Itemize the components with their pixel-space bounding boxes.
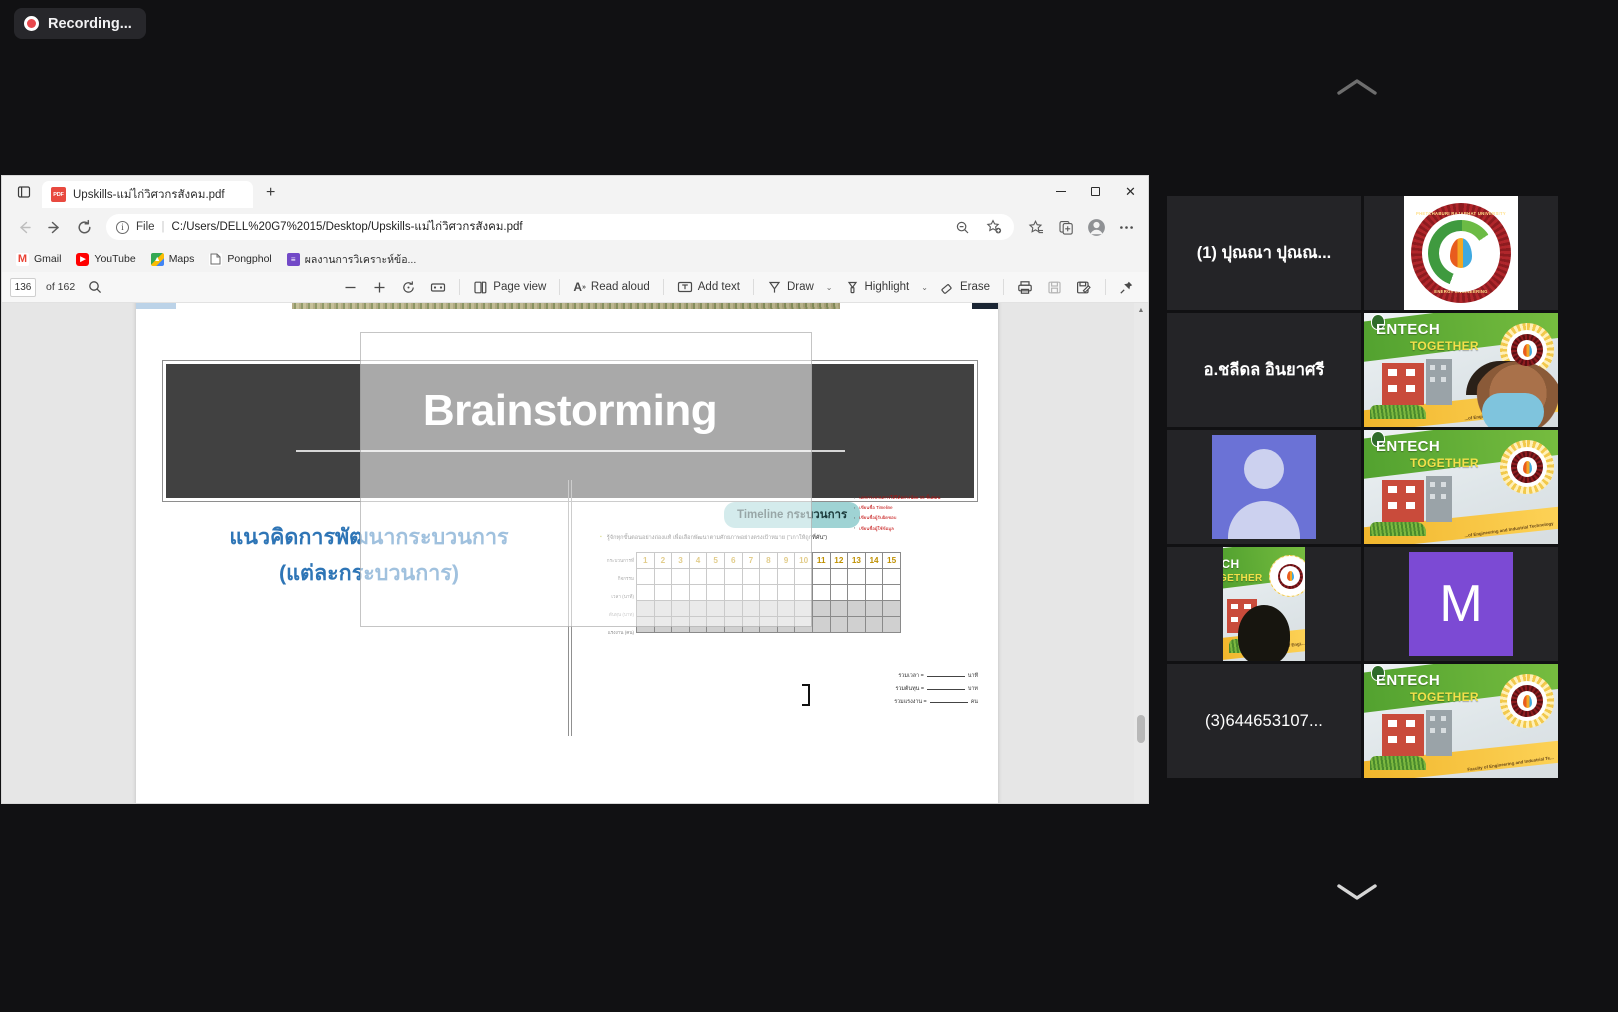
participant-tile[interactable]: ENTECH TOGETHER Faculty of Engineering a… — [1364, 664, 1558, 778]
close-icon[interactable]: ✕ — [1113, 176, 1148, 206]
fit-to-page-icon[interactable] — [424, 276, 452, 298]
url-text: C:/Users/DELL%20G7%2015/Desktop/Upskills… — [172, 218, 523, 236]
maximize-icon[interactable] — [1078, 176, 1113, 206]
bookmarks-bar: M Gmail ▶ YouTube ▲ Maps Pongphol ≡ ผลงา… — [2, 246, 1148, 272]
url-scheme-label: File — [136, 221, 155, 233]
sum-unit: บาท — [968, 685, 978, 693]
participant-tile[interactable]: ENTECH TOGETHER ...of Engineering and In… — [1364, 430, 1558, 544]
timeline-sum-row: รวมแรงงาน =คน — [894, 697, 978, 706]
participant-name: (3)644653107... — [1199, 712, 1329, 731]
entech-title: ENTECH — [1376, 438, 1440, 455]
participant-tile[interactable] — [1167, 430, 1361, 544]
participant-tile-active-speaker[interactable]: ENTECH TOGETHER ...of Engineering and In… — [1364, 313, 1558, 427]
table-cell: 12 — [830, 553, 848, 569]
new-tab-button[interactable]: + — [258, 180, 284, 206]
timeline-bullets: แยกกระบวนการให้ได้อย่างน้อย 15 ขั้นตอน เ… — [854, 494, 940, 535]
pdf-scrollbar[interactable]: ▲ ▼ — [1134, 303, 1148, 803]
entech-title: ECH — [1223, 557, 1240, 571]
pdf-toolbar: 136 of 162 Page view — [2, 272, 1148, 303]
draw-dropdown-caret[interactable]: ⌄ — [822, 283, 837, 292]
page-view-label: Page view — [493, 281, 546, 293]
avatar-silhouette-icon — [1212, 435, 1316, 539]
address-bar[interactable]: i File | C:/Users/DELL%20G7%2015/Desktop… — [106, 214, 1014, 240]
participant-tile[interactable]: (1) ปุณณา ปุณณ... — [1167, 196, 1361, 310]
save-icon[interactable] — [1041, 276, 1068, 298]
back-arrow-icon[interactable] — [10, 213, 38, 241]
bookmark-pongphol[interactable]: Pongphol — [203, 251, 277, 268]
tab-title: Upskills-แม่ไก่วิศวกรสังคม.pdf — [73, 186, 225, 204]
participant-tile[interactable]: M — [1364, 547, 1558, 661]
youtube-icon: ▶ — [76, 253, 89, 266]
erase-label: Erase — [960, 281, 990, 293]
energy-engineering-logo-icon: PHETCHABURI RAJABHAT UNIVERSITY ENERGY E… — [1404, 196, 1518, 310]
bookmark-youtube[interactable]: ▶ YouTube — [70, 251, 141, 268]
participant-row: (3)644653107... ENTECH TOGETHER Faculty … — [1167, 664, 1565, 778]
highlight-label: Highlight — [865, 281, 910, 293]
previous-slide-remnant: ศ.นบวัติพงษ์ มีไว้โว สาขาวิชาวิศวกรรมพลั… — [136, 303, 998, 331]
pin-icon[interactable] — [1113, 276, 1140, 298]
participant-tile[interactable]: ECH GETHER of Engi... — [1167, 547, 1361, 661]
add-text-label: Add text — [698, 281, 740, 293]
recording-indicator[interactable]: Recording... — [14, 8, 146, 39]
tab-strip: PDF Upskills-แม่ไก่วิศวกรสังคม.pdf close… — [2, 176, 1148, 208]
entech-subtitle: TOGETHER — [1410, 690, 1479, 704]
participant-tile[interactable]: (3)644653107... — [1167, 664, 1361, 778]
person-silhouette — [1238, 605, 1290, 661]
timeline-bullet: เขียนชื่อผู้รับผิดชอบ — [854, 514, 940, 521]
floating-overlay-panel — [360, 332, 812, 627]
sheets-icon: ≡ — [287, 253, 300, 266]
logo-top-text: PHETCHABURI RAJABHAT UNIVERSITY — [1416, 211, 1506, 216]
browser-window: PDF Upskills-แม่ไก่วิศวกรสังคม.pdf close… — [2, 176, 1148, 803]
entech-banner-background: ECH GETHER of Engi... — [1223, 547, 1305, 661]
screen-root: Recording... PDF Upskills-แม่ไก่วิศวกรสั… — [0, 0, 1618, 1012]
entech-banner-background: ENTECH TOGETHER Faculty of Engineering a… — [1364, 664, 1558, 778]
zoom-out-button[interactable] — [337, 276, 364, 298]
participant-row: ECH GETHER of Engi... M — [1167, 547, 1565, 661]
entech-banner-background: ENTECH TOGETHER ...of Engineering and In… — [1364, 313, 1558, 427]
timeline-bullet: เขียนชื่อผู้ใช้ข้อมูล — [854, 525, 940, 532]
chevron-up-icon[interactable] — [1332, 72, 1382, 102]
read-aloud-label: Read aloud — [591, 281, 650, 293]
url-separator: | — [162, 221, 165, 233]
info-circle-icon[interactable]: i — [116, 221, 129, 234]
timeline-bullet: เขียนชื่อ Timeline — [854, 504, 940, 511]
table-cell: 13 — [848, 553, 866, 569]
timeline-sum-row: รวมเวลา =นาที — [894, 671, 978, 680]
sum-label: รวมเวลา = — [898, 672, 923, 680]
pdf-viewport[interactable]: ศ.นบวัติพงษ์ มีไว้โว สาขาวิชาวิศวกรรมพลั… — [2, 303, 1148, 803]
add-text-icon — [677, 280, 693, 294]
page-view-icon — [473, 280, 488, 295]
forward-arrow-icon[interactable] — [40, 213, 68, 241]
timeline-bullet: แยกกระบวนการให้ได้อย่างน้อย 15 ขั้นตอน — [854, 494, 940, 501]
sum-label: รวมต้นทุน = — [895, 685, 924, 693]
browser-tab[interactable]: PDF Upskills-แม่ไก่วิศวกรสังคม.pdf close… — [42, 181, 253, 208]
timeline-sums: รวมเวลา =นาที รวมต้นทุน =บาท รวมแรงงาน =… — [894, 671, 978, 710]
entech-title: ENTECH — [1376, 672, 1440, 689]
participant-grid: (1) ปุณณา ปุณณ... PHETCHABURI RAJABHAT U… — [1167, 196, 1565, 781]
participant-tile[interactable]: อ.ชลีดล อินยาศรี — [1167, 313, 1361, 427]
bookmark-label: Pongphol — [227, 253, 271, 265]
settings-more-icon[interactable] — [1112, 213, 1140, 241]
bookmark-sheets[interactable]: ≡ ผลงานการวิเคราะห์ข้อ... — [281, 249, 423, 270]
record-dot-icon — [24, 16, 39, 31]
entech-subtitle: GETHER — [1223, 573, 1262, 584]
pdf-page-input[interactable]: 136 — [10, 278, 36, 297]
sum-unit: คน — [971, 698, 978, 706]
pdf-favicon: PDF — [51, 187, 66, 202]
participant-tile[interactable]: PHETCHABURI RAJABHAT UNIVERSITY ENERGY E… — [1364, 196, 1558, 310]
highlight-button[interactable]: Highlight — [839, 276, 916, 298]
table-cell: 14 — [865, 553, 883, 569]
logo-bottom-text: ENERGY ENGINEERING — [1434, 289, 1488, 294]
tab-list-icon[interactable] — [10, 179, 38, 205]
timeline-row-label: แรงงาน (คน) — [592, 630, 634, 637]
eraser-icon — [940, 280, 955, 295]
read-aloud-button[interactable]: A» Read aloud — [567, 276, 655, 298]
save-as-icon[interactable] — [1070, 276, 1098, 298]
window-controls: ✕ — [1043, 176, 1148, 206]
bookmark-label: YouTube — [94, 253, 135, 265]
add-text-button[interactable]: Add text — [671, 276, 746, 298]
minimize-icon[interactable] — [1043, 176, 1078, 206]
bookmark-maps[interactable]: ▲ Maps — [145, 251, 201, 268]
print-icon[interactable] — [1011, 276, 1039, 298]
gear-logo-icon — [1500, 440, 1554, 494]
entech-subtitle: TOGETHER — [1410, 456, 1479, 470]
entech-subtitle: TOGETHER — [1410, 339, 1479, 353]
participant-row: (1) ปุณณา ปุณณ... PHETCHABURI RAJABHAT U… — [1167, 196, 1565, 310]
face-mask — [1482, 393, 1544, 427]
document-icon — [209, 253, 222, 266]
rotate-icon[interactable] — [395, 276, 422, 298]
participant-name: อ.ชลีดล อินยาศรี — [1198, 357, 1331, 383]
scrollbar-thumb[interactable] — [1137, 715, 1145, 743]
draw-label: Draw — [787, 281, 814, 293]
avatar-initial: M — [1409, 552, 1513, 656]
sum-label: รวมแรงงาน = — [894, 698, 926, 706]
entech-banner-background: ENTECH TOGETHER ...of Engineering and In… — [1364, 430, 1558, 544]
table-cell: 15 — [883, 553, 901, 569]
scroll-up-arrow-icon[interactable]: ▲ — [1134, 303, 1148, 317]
page-view-button[interactable]: Page view — [467, 276, 552, 298]
timeline-sum-row: รวมต้นทุน =บาท — [894, 684, 978, 693]
navigation-bar: i File | C:/Users/DELL%20G7%2015/Desktop… — [2, 208, 1148, 246]
search-icon[interactable] — [82, 276, 108, 298]
table-cell: 11 — [812, 553, 830, 569]
erase-button[interactable]: Erase — [934, 276, 996, 298]
bookmark-gmail[interactable]: M Gmail — [10, 251, 67, 268]
participant-name: (1) ปุณณา ปุณณ... — [1191, 240, 1338, 266]
entech-title: ENTECH — [1376, 321, 1440, 338]
participant-row: อ.ชลีดล อินยาศรี ENTECH TOGETHER ...of E… — [1167, 313, 1565, 427]
bookmark-label: Gmail — [34, 253, 61, 265]
grass-photo — [292, 303, 840, 309]
bookmark-label: Maps — [169, 253, 195, 265]
sum-unit: นาที — [968, 672, 978, 680]
gear-logo-icon — [1269, 555, 1305, 597]
highlight-dropdown-caret[interactable]: ⌄ — [917, 283, 932, 292]
participant-row: ENTECH TOGETHER ...of Engineering and In… — [1167, 430, 1565, 544]
gear-logo-icon — [1500, 674, 1554, 728]
gmail-icon: M — [16, 253, 29, 266]
add-favorite-icon[interactable] — [980, 214, 1008, 240]
close-icon[interactable]: close-icon — [232, 187, 247, 202]
participant-rail: (1) ปุณณา ปุณณ... PHETCHABURI RAJABHAT U… — [1167, 0, 1618, 1012]
profile-avatar-icon[interactable] — [1082, 213, 1110, 241]
draw-button[interactable]: Draw — [761, 276, 820, 298]
chevron-down-icon[interactable] — [1332, 877, 1382, 907]
maps-icon: ▲ — [151, 253, 164, 266]
reload-icon[interactable] — [70, 213, 98, 241]
bookmark-label: ผลงานการวิเคราะห์ข้อ... — [305, 251, 417, 268]
browser-essentials-icon[interactable] — [1052, 213, 1080, 241]
highlighter-icon — [845, 280, 860, 295]
draw-pen-icon — [767, 280, 782, 295]
read-aloud-icon: A» — [573, 280, 586, 294]
zoom-in-button[interactable] — [366, 276, 393, 298]
recording-label: Recording... — [48, 16, 132, 32]
pdf-page-count: of 162 — [46, 281, 75, 293]
zoom-out-icon[interactable] — [948, 214, 976, 240]
collections-icon[interactable] — [1022, 213, 1050, 241]
text-cursor — [805, 684, 807, 706]
browser-toolbar-icons — [1022, 213, 1140, 241]
